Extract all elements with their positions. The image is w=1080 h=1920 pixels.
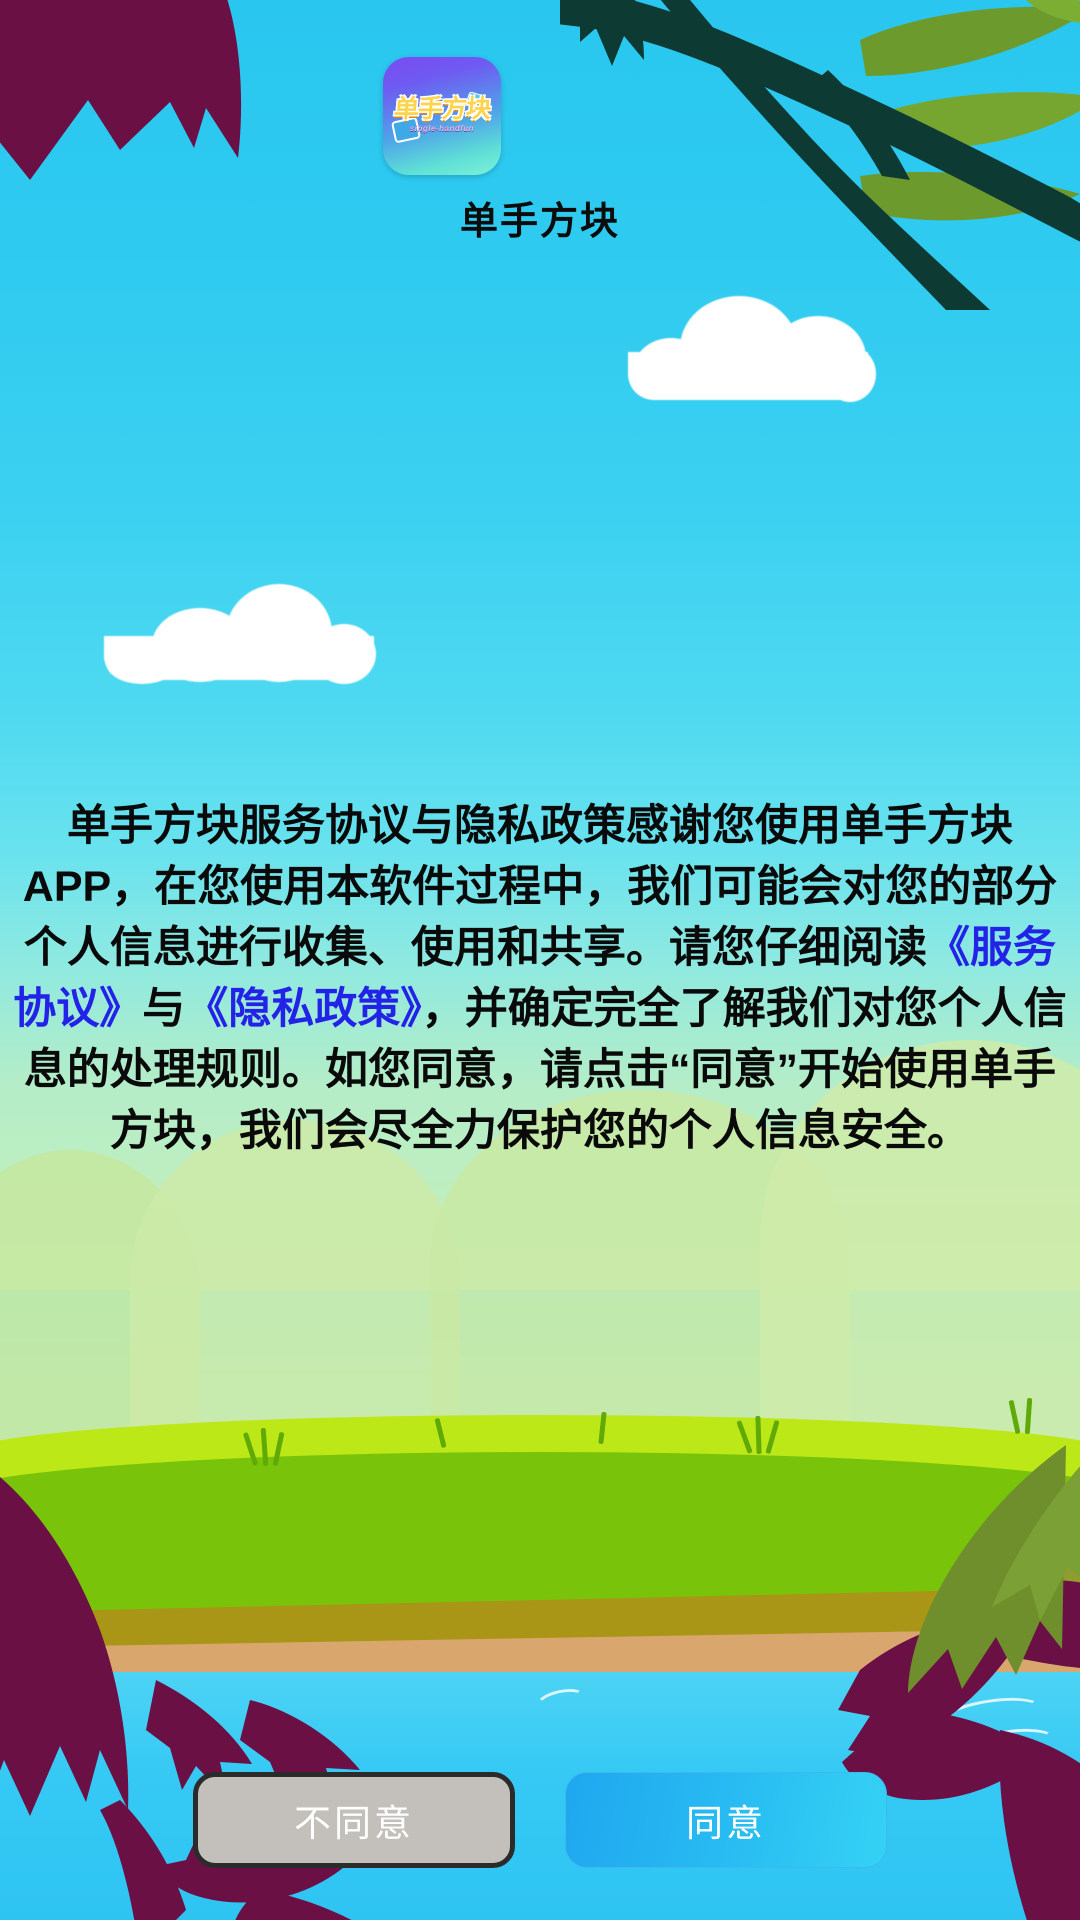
privacy-policy-link[interactable]: 《隐私政策》 [185, 985, 422, 1033]
app-icon-logo: 单手方块 single-handfun [389, 91, 495, 139]
cloud-lump [824, 346, 876, 402]
agree-button[interactable]: 同意 [565, 1772, 887, 1868]
app-icon-logo-sub: single-handfun [410, 124, 474, 133]
privacy-policy-screen: 单手方块 single-handfun 单手方块 单手方块服务协议与隐私政策感谢… [0, 0, 1080, 1920]
policy-conjunction: 与 [142, 985, 185, 1033]
hill-silhouette-2 [130, 1120, 460, 1440]
app-icon-logo-main: 单手方块 [393, 97, 491, 122]
disagree-button[interactable]: 不同意 [193, 1772, 515, 1868]
action-button-row: 不同意 同意 [0, 1772, 1080, 1868]
app-title: 单手方块 [0, 190, 1080, 245]
policy-text: 单手方块服务协议与隐私政策感谢您使用单手方块APP，在您使用本软件过程中，我们可… [0, 796, 1080, 1162]
branch-foliage-top-right [560, 0, 1080, 310]
leaf-olive-bank-right [790, 1425, 1080, 1705]
cloud-lower-left [104, 580, 374, 680]
cloud-lump [312, 624, 376, 684]
policy-intro: 单手方块服务协议与隐私政策感谢您使用单手方块APP，在您使用本软件过程中，我们可… [23, 802, 1057, 972]
app-icon[interactable]: 单手方块 single-handfun [383, 57, 501, 175]
